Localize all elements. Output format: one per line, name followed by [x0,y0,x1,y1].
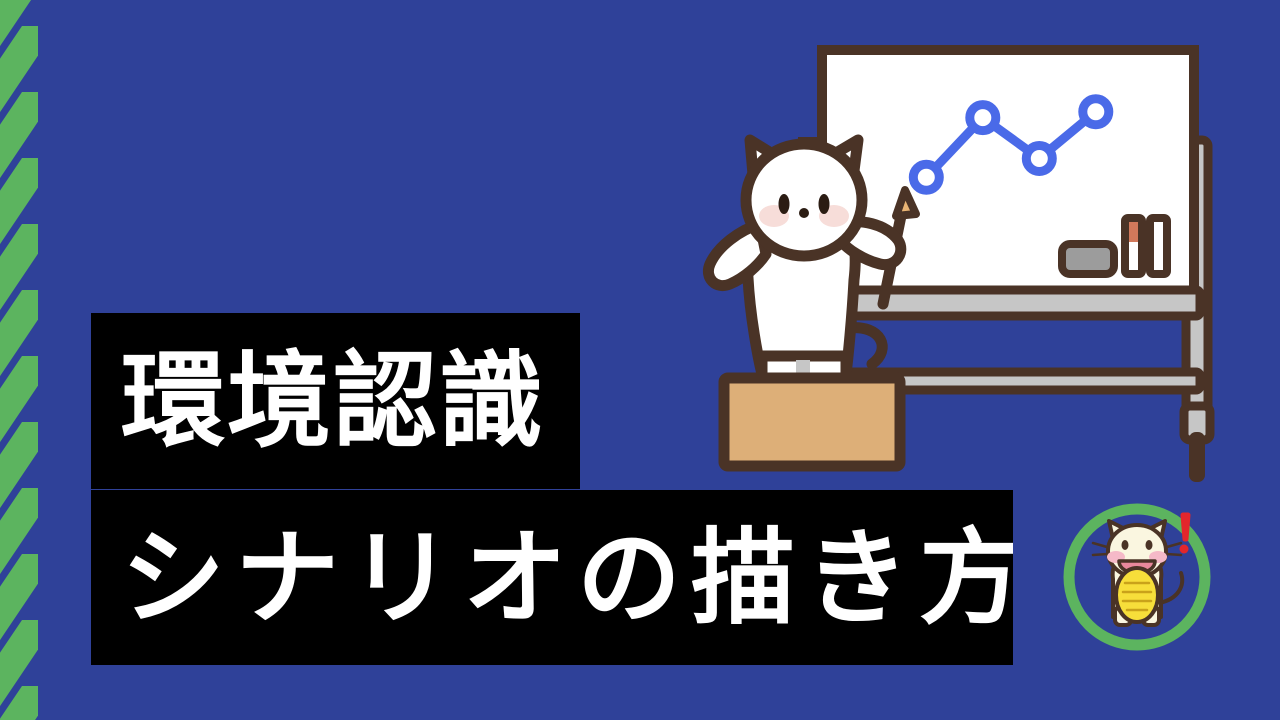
chart-marker-4 [1083,99,1109,125]
cat-head [746,140,862,256]
chart-marker-3 [1026,146,1052,172]
marker-black-icon [1150,218,1167,274]
diagonal-stripe-band [0,0,38,720]
title-line-primary: 環境認識 [91,349,545,453]
thumbnail-canvas: 環境認識 シナリオの描き方 [0,0,1280,720]
cat-nose [799,208,809,218]
title-box-secondary: シナリオの描き方 [91,490,1013,665]
badge-cat-held-object [1116,568,1158,622]
channel-avatar-badge [1055,495,1220,660]
chart-marker-1 [913,164,939,190]
title-line-secondary: シナリオの描き方 [91,526,1013,630]
badge-cat [1093,521,1182,625]
title-box-primary: 環境認識 [91,313,580,489]
chart-marker-2 [970,105,996,131]
eraser-icon [1062,244,1114,274]
cat-eye-right [819,194,830,214]
cat-eye-left [779,194,790,214]
wooden-box [724,378,900,466]
badge-cat-eye-right [1146,540,1153,550]
cat-presenting-at-whiteboard-illustration [700,28,1230,498]
badge-cat-eye-left [1122,540,1129,550]
